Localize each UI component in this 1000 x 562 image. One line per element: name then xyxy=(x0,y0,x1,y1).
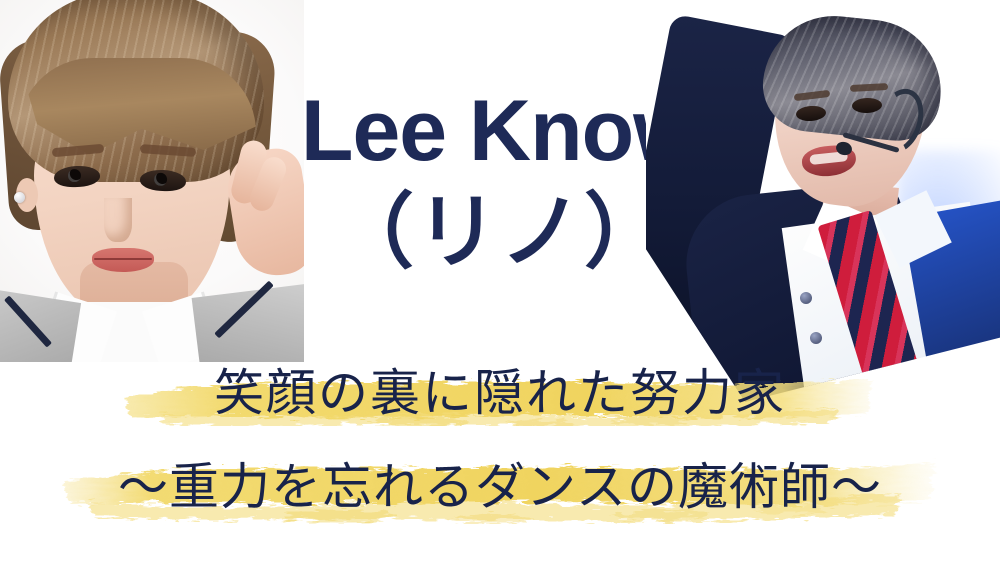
stage-blazer-button-2 xyxy=(810,332,822,344)
tagline-2: ～重力を忘れるダンスの魔術師～ xyxy=(60,442,940,524)
stage-blazer-button-1 xyxy=(800,292,812,304)
tagline-2-text: ～重力を忘れるダンスの魔術師～ xyxy=(60,442,940,524)
tagline-1-text: 笑顔の裏に隠れた努力家 xyxy=(120,352,880,426)
page-subtitle-kana: （リノ） xyxy=(0,192,1000,274)
lee-know-selfie-photo xyxy=(0,0,304,362)
tagline-1: 笑顔の裏に隠れた努力家 xyxy=(120,352,880,426)
thumbnail-canvas: Lee Know （リノ） xyxy=(0,0,1000,562)
